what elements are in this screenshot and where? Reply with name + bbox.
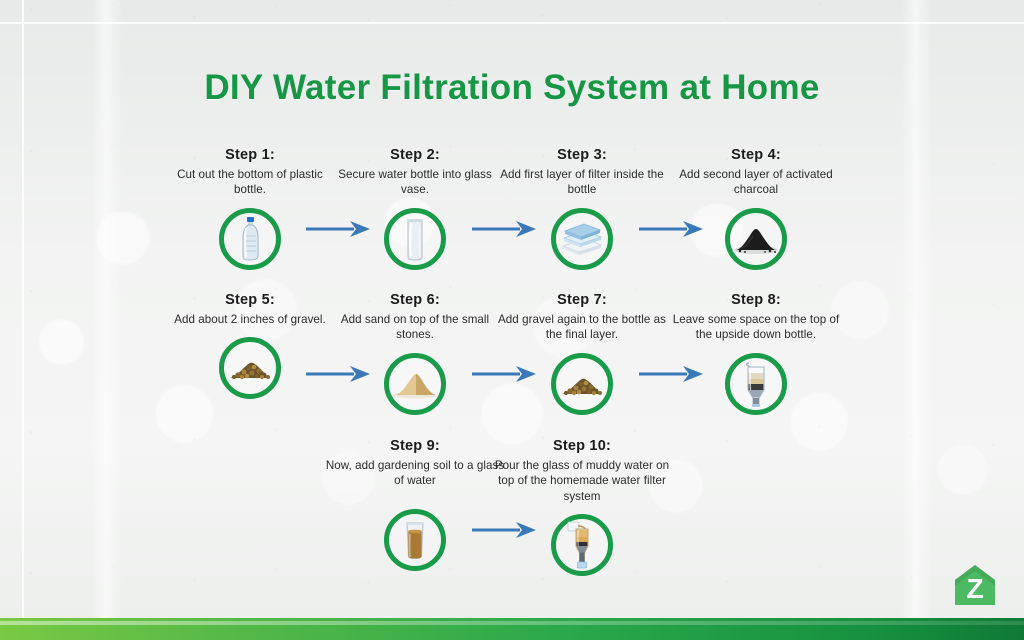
step-card-3[interactable]: Step 3: Add first layer of filter inside… [492,146,672,270]
step-title: Step 1: [160,146,340,164]
step-description: Secure water bottle into glass vase. [325,167,505,198]
page-title: DIY Water Filtration System at Home [0,68,1024,108]
steps-row-3: Step 9: Now, add gardening soil to a gla… [0,437,1024,577]
step-description: Add second layer of activated charcoal [666,167,846,198]
logo-letter: Z [966,573,983,604]
frame-line-top [0,22,1024,24]
filter-cloth-layers-icon [559,221,605,257]
step-description: Add first layer of filter inside the bot… [492,167,672,198]
step-icon-circle[interactable] [219,337,281,399]
step-title: Step 7: [492,291,672,309]
step-card-2[interactable]: Step 2: Secure water bottle into glass v… [325,146,505,270]
step-description: Cut out the bottom of plastic bottle. [160,167,340,198]
steps-row-1: Step 1: Cut out the bottom of plastic bo… [0,146,1024,286]
glass-vase-icon [402,217,428,261]
step-title: Step 8: [666,291,846,309]
step-icon-circle[interactable] [384,353,446,415]
step-icon-circle[interactable] [551,353,613,415]
upside-down-bottle-filter-icon [741,360,771,408]
house-z-logo[interactable]: Z [952,562,998,608]
muddy-water-glass-icon [402,520,428,560]
step-description: Leave some space on the top of the upsid… [666,312,846,343]
step-icon-circle[interactable] [384,208,446,270]
step-description: Add sand on top of the small stones. [325,312,505,343]
step-title: Step 9: [325,437,505,455]
step-description: Add gravel again to the bottle as the fi… [492,312,672,343]
step-card-5[interactable]: Step 5: Add about 2 inches of gravel. [160,291,340,399]
step-icon-circle[interactable] [384,509,446,571]
step-card-7[interactable]: Step 7: Add gravel again to the bottle a… [492,291,672,415]
pouring-water-filter-icon [565,520,599,570]
step-card-8[interactable]: Step 8: Leave some space on the top of t… [666,291,846,415]
step-card-6[interactable]: Step 6: Add sand on top of the small sto… [325,291,505,415]
step-title: Step 5: [160,291,340,309]
step-title: Step 4: [666,146,846,164]
step-icon-circle[interactable] [725,208,787,270]
sand-pile-icon [391,369,439,399]
step-title: Step 10: [492,437,672,455]
steps-row-2: Step 5: Add about 2 inches of gravel. [0,291,1024,431]
footer-green-bar [0,618,1024,640]
gravel-pile-icon [558,370,606,398]
step-title: Step 6: [325,291,505,309]
step-icon-circle[interactable] [551,208,613,270]
step-card-4[interactable]: Step 4: Add second layer of activated ch… [666,146,846,270]
step-description: Now, add gardening soil to a glass of wa… [325,458,505,489]
step-title: Step 3: [492,146,672,164]
step-icon-circle[interactable] [551,514,613,576]
step-icon-circle[interactable] [725,353,787,415]
charcoal-pile-icon [732,223,780,255]
gravel-pile-icon [226,354,274,382]
step-card-9[interactable]: Step 9: Now, add gardening soil to a gla… [325,437,505,571]
step-card-1[interactable]: Step 1: Cut out the bottom of plastic bo… [160,146,340,270]
step-description: Add about 2 inches of gravel. [160,312,340,327]
step-description: Pour the glass of muddy water on top of … [492,458,672,504]
infographic-page: DIY Water Filtration System at Home Step… [0,0,1024,640]
step-icon-circle[interactable] [219,208,281,270]
step-title: Step 2: [325,146,505,164]
step-card-10[interactable]: Step 10: Pour the glass of muddy water o… [492,437,672,576]
plastic-bottle-icon [237,216,263,262]
